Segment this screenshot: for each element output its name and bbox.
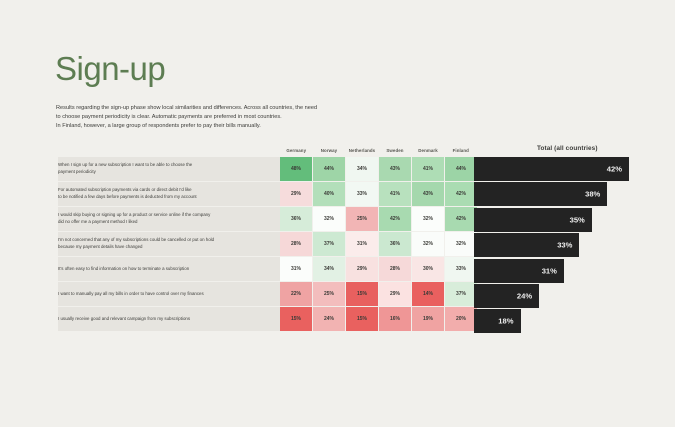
heatmap-cell: 41%	[379, 182, 412, 207]
column-header-sweden: Sweden	[379, 143, 412, 157]
heatmap-cell: 24%	[313, 307, 346, 332]
table-row: I usually receive good and relevant camp…	[58, 307, 477, 332]
funnel-bar-label: 33%	[557, 241, 572, 250]
heatmap-cell: 15%	[346, 282, 379, 307]
heatmap-table: Germany Norway Netherlands Sweden Denmar…	[58, 143, 477, 332]
statement-line: I want to manually pay all my bills in o…	[58, 291, 280, 298]
funnel-bar: 35%	[474, 208, 592, 232]
funnel-bar: 31%	[474, 259, 564, 283]
table-row: For automated subscription payments via …	[58, 182, 477, 207]
subtitle-line-2: to choose payment periodicity is clear. …	[56, 113, 416, 122]
column-header-germany: Germany	[280, 143, 313, 157]
funnel-bar-label: 38%	[585, 190, 600, 199]
heatmap-table-container: Germany Norway Netherlands Sweden Denmar…	[58, 143, 477, 332]
statement-cell: I would skip buying or signing up for a …	[58, 207, 280, 232]
heatmap-cell: 19%	[412, 307, 445, 332]
heatmap-cell: 28%	[280, 232, 313, 257]
table-header: Germany Norway Netherlands Sweden Denmar…	[58, 143, 477, 157]
heatmap-cell: 30%	[412, 257, 445, 282]
heatmap-cell: 37%	[313, 232, 346, 257]
funnel-bar: 18%	[474, 309, 521, 333]
statement-line: When I sign up for a new subscription I …	[58, 162, 280, 169]
funnel-bar-label: 18%	[498, 317, 513, 326]
statement-line: For automated subscription payments via …	[58, 187, 280, 194]
heatmap-cell: 31%	[346, 232, 379, 257]
statement-line: did no offer me a payment method I liked	[58, 219, 280, 226]
slide-canvas: Sign-up Results regarding the sign-up ph…	[0, 0, 675, 427]
table-body: When I sign up for a new subscription I …	[58, 157, 477, 332]
heatmap-cell: 37%	[445, 282, 478, 307]
heatmap-cell: 43%	[379, 157, 412, 182]
heatmap-cell: 25%	[346, 207, 379, 232]
table-row: I'm not concerned that any of my subscri…	[58, 232, 477, 257]
heatmap-cell: 16%	[379, 307, 412, 332]
table-row: When I sign up for a new subscription I …	[58, 157, 477, 182]
heatmap-cell: 14%	[412, 282, 445, 307]
heatmap-cell: 48%	[280, 157, 313, 182]
heatmap-cell: 25%	[313, 282, 346, 307]
statement-cell: I want to manually pay all my bills in o…	[58, 282, 280, 307]
statement-column-header	[58, 143, 280, 157]
statement-line: to be notified a few days before payment…	[58, 194, 280, 201]
heatmap-cell: 34%	[346, 157, 379, 182]
statement-cell: For automated subscription payments via …	[58, 182, 280, 207]
statement-line: I usually receive good and relevant camp…	[58, 316, 280, 323]
table-row: I want to manually pay all my bills in o…	[58, 282, 477, 307]
funnel-bar: 24%	[474, 284, 539, 308]
heatmap-cell: 33%	[445, 257, 478, 282]
heatmap-cell: 28%	[379, 257, 412, 282]
statement-line: I would skip buying or signing up for a …	[58, 212, 280, 219]
heatmap-cell: 33%	[346, 182, 379, 207]
funnel-bar-label: 31%	[542, 266, 557, 275]
heatmap-cell: 29%	[280, 182, 313, 207]
funnel-bar-label: 24%	[517, 291, 532, 300]
page-title: Sign-up	[55, 52, 165, 85]
statement-cell: When I sign up for a new subscription I …	[58, 157, 280, 182]
subtitle-line-1: Results regarding the sign-up phase show…	[56, 104, 416, 113]
heatmap-cell: 15%	[280, 307, 313, 332]
heatmap-cell: 36%	[379, 232, 412, 257]
column-header-netherlands: Netherlands	[346, 143, 379, 157]
statement-line: because my payment details have changed	[58, 244, 280, 251]
funnel-bar-label: 35%	[570, 215, 585, 224]
heatmap-cell: 42%	[445, 207, 478, 232]
heatmap-cell: 42%	[379, 207, 412, 232]
subtitle-line-3: In Finland, however, a large group of re…	[56, 122, 416, 131]
statement-cell: I usually receive good and relevant camp…	[58, 307, 280, 332]
heatmap-cell: 32%	[412, 232, 445, 257]
table-row: It's often easy to find information on h…	[58, 257, 477, 282]
table-header-row: Germany Norway Netherlands Sweden Denmar…	[58, 143, 477, 157]
heatmap-cell: 34%	[313, 257, 346, 282]
heatmap-cell: 43%	[412, 182, 445, 207]
funnel-bar: 38%	[474, 182, 607, 206]
heatmap-cell: 32%	[445, 232, 478, 257]
statement-line: It's often easy to find information on h…	[58, 266, 280, 273]
column-header-finland: Finland	[445, 143, 478, 157]
column-header-norway: Norway	[313, 143, 346, 157]
statement-cell: It's often easy to find information on h…	[58, 257, 280, 282]
table-row: I would skip buying or signing up for a …	[58, 207, 477, 232]
heatmap-cell: 36%	[280, 207, 313, 232]
heatmap-cell: 29%	[346, 257, 379, 282]
heatmap-cell: 41%	[412, 157, 445, 182]
heatmap-cell: 31%	[280, 257, 313, 282]
heatmap-cell: 44%	[313, 157, 346, 182]
heatmap-cell: 32%	[313, 207, 346, 232]
funnel-bar-label: 42%	[607, 165, 622, 174]
funnel-bar: 33%	[474, 233, 579, 257]
total-column-header: Total (all countries)	[537, 145, 598, 152]
total-funnel-chart: 42%38%35%33%31%24%18%	[474, 157, 629, 335]
heatmap-cell: 15%	[346, 307, 379, 332]
heatmap-cell: 22%	[280, 282, 313, 307]
heatmap-cell: 20%	[445, 307, 478, 332]
heatmap-cell: 32%	[412, 207, 445, 232]
statement-line: I'm not concerned that any of my subscri…	[58, 237, 280, 244]
page-subtitle: Results regarding the sign-up phase show…	[56, 104, 416, 131]
heatmap-cell: 42%	[445, 182, 478, 207]
heatmap-cell: 44%	[445, 157, 478, 182]
funnel-bar: 42%	[474, 157, 629, 181]
statement-line: payment periodicity	[58, 169, 280, 176]
statement-cell: I'm not concerned that any of my subscri…	[58, 232, 280, 257]
column-header-denmark: Denmark	[412, 143, 445, 157]
heatmap-cell: 40%	[313, 182, 346, 207]
heatmap-cell: 29%	[379, 282, 412, 307]
